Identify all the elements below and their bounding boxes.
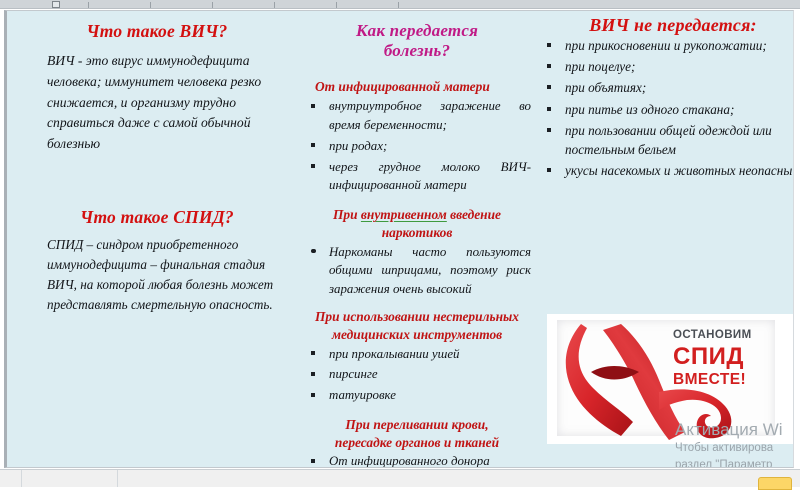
powerpoint-window: Что такое ВИЧ? ВИЧ - это вирус иммунодеф… <box>0 0 800 487</box>
ruler-tick <box>274 2 275 8</box>
heading-hiv-not-transmitted: ВИЧ не передается: <box>539 11 793 36</box>
slide-content: Что такое ВИЧ? ВИЧ - это вирус иммунодеф… <box>7 11 793 467</box>
ruler-tick <box>398 2 399 8</box>
list-item: татуировке <box>303 386 531 405</box>
subheading-line1: При переливании крови, <box>345 417 488 432</box>
ribbon-caption-line3: ВМЕСТЕ! <box>673 372 791 388</box>
subheading-prefix: При <box>333 207 361 222</box>
heading-what-is-aids: Что такое СПИД? <box>21 155 293 227</box>
list-blood-transfusion: От инфицированного донора <box>303 452 531 468</box>
list-item: при пользовании общей одеждой или постел… <box>539 121 793 160</box>
ruler-tick <box>336 2 337 8</box>
status-bar-segment <box>0 470 22 487</box>
slide-canvas[interactable]: Что такое ВИЧ? ВИЧ - это вирус иммунодеф… <box>4 10 794 468</box>
column-left: Что такое ВИЧ? ВИЧ - это вирус иммунодеф… <box>21 15 293 315</box>
column-right: ВИЧ не передается: при прикосновении и р… <box>539 11 793 183</box>
status-bar-segment <box>22 470 118 487</box>
red-ribbon-image[interactable]: ОСТАНОВИМ СПИД ВМЕСТЕ! <box>547 314 794 444</box>
heading-how-transmitted: Как передается болезнь? <box>303 15 531 60</box>
watermark-line-2: раздел "Параметр <box>675 457 794 468</box>
list-item: внутриутробное заражение во время береме… <box>303 97 531 135</box>
list-item: при питье из одного стакана; <box>539 100 793 119</box>
list-item: при поцелуе; <box>539 57 793 76</box>
subheading-line2: медицинских инструментов <box>332 327 502 342</box>
ruler-tick <box>150 2 151 8</box>
list-hiv-not-transmitted: при прикосновении и рукопожатии; при поц… <box>539 36 793 181</box>
status-bar[interactable] <box>0 469 800 487</box>
subheading-from-infected-mother: От инфицированной матери <box>303 60 531 97</box>
list-from-infected-mother: внутриутробное заражение во время береме… <box>303 97 531 195</box>
list-item: при прикосновении и рукопожатии; <box>539 36 793 55</box>
list-item: Наркоманы часто пользуются общими шприца… <box>303 243 531 299</box>
ribbon-caption-line1: ОСТАНОВИМ <box>673 330 791 342</box>
subheading-nonsterile-instruments: При использовании нестерильных медицинск… <box>303 299 531 344</box>
status-bar-chip[interactable] <box>758 477 792 490</box>
list-item: От инфицированного донора <box>303 452 531 468</box>
list-intravenous-drugs: Наркоманы часто пользуются общими шприца… <box>303 243 531 299</box>
subheading-underlined-word: внутривенном <box>361 207 447 222</box>
ruler-indent-marker[interactable] <box>52 1 60 8</box>
list-item: при родах; <box>303 137 531 156</box>
subheading-intravenous-drugs: При внутривенном введение наркотиков <box>303 197 531 242</box>
ribbon-caption: ОСТАНОВИМ СПИД ВМЕСТЕ! <box>673 330 791 387</box>
heading-how-transmitted-line1: Как передается <box>356 21 478 40</box>
list-item: через грудное молоко ВИЧ-инфицированной … <box>303 158 531 196</box>
paragraph-aids-definition: СПИД – синдром приобретенного иммунодефи… <box>21 227 293 315</box>
list-nonsterile-instruments: при прокалывании ушей пирсинге татуировк… <box>303 345 531 405</box>
subheading-line1: При использовании нестерильных <box>315 309 519 324</box>
subheading-blood-transfusion: При переливании крови, пересадке органов… <box>303 407 531 452</box>
heading-how-transmitted-line2: болезнь? <box>384 41 450 60</box>
subheading-line2: пересадке органов и тканей <box>335 435 499 450</box>
column-middle: Как передается болезнь? От инфицированно… <box>303 15 531 468</box>
list-item: при прокалывании ушей <box>303 345 531 364</box>
ruler-tick <box>212 2 213 8</box>
list-item: укусы насекомых и животных неопасны <box>539 161 793 180</box>
ribbon-caption-line2: СПИД <box>673 345 791 369</box>
list-item: при объятиях; <box>539 78 793 97</box>
ruler-tick <box>88 2 89 8</box>
paragraph-hiv-definition: ВИЧ - это вирус иммунодефицита человека;… <box>21 41 293 154</box>
horizontal-ruler[interactable] <box>0 0 800 9</box>
list-item: пирсинге <box>303 365 531 384</box>
heading-what-is-hiv: Что такое ВИЧ? <box>21 15 293 41</box>
